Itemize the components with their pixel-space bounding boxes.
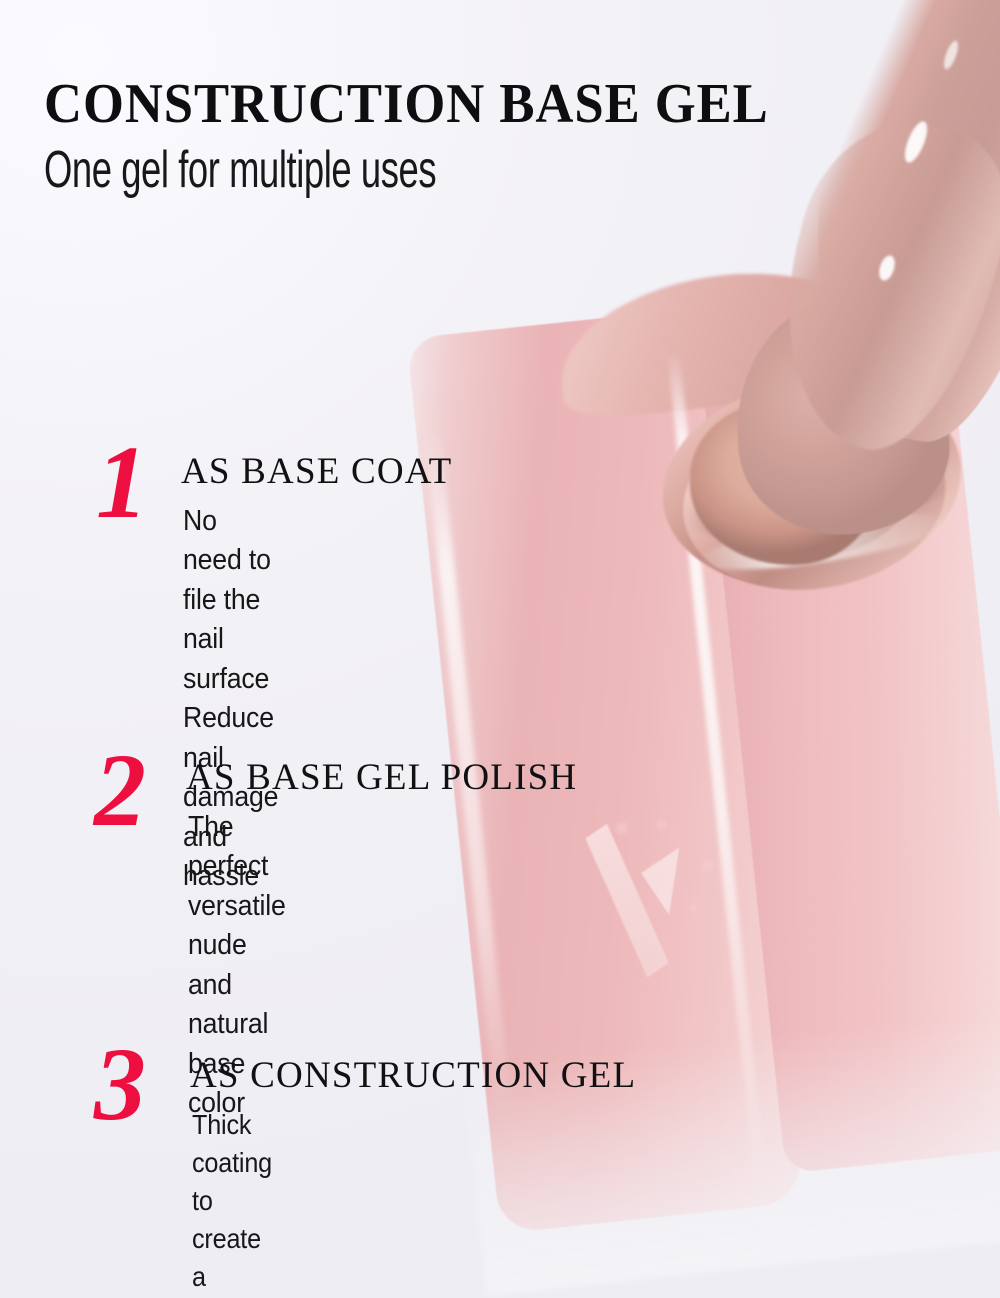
neck-opening [685, 378, 934, 575]
gel-stream-highlight-band [753, 101, 1000, 470]
benefit-number-3: 3 [94, 1038, 146, 1132]
benefit-title-1: AS BASE COAT [181, 450, 452, 493]
neck-ring-outer [648, 359, 976, 608]
bottle-shoulder [552, 259, 894, 423]
bottle-edge-highlight [667, 350, 768, 1197]
gel-specular-2 [876, 253, 897, 282]
benefit-number-2: 2 [94, 744, 146, 838]
page-subtitle: One gel for multiple uses [44, 140, 436, 200]
benefit-description-3: Thick coating to create a perfect C-curv… [192, 1106, 272, 1298]
gel-droplet [720, 287, 961, 549]
emboss-texture [596, 757, 779, 948]
bottle-side-face [698, 312, 1000, 1174]
neck-gloss-highlight [698, 502, 951, 581]
gel-pool-in-neck [690, 400, 880, 565]
gel-specular-1 [900, 119, 931, 166]
emboss-triangle [641, 847, 707, 914]
neck-ring-mid [670, 389, 959, 608]
neck-ring-shadow [683, 449, 955, 552]
emboss-bar [585, 824, 669, 978]
gel-stream [769, 0, 1000, 459]
benefit-title-2: AS BASE GEL POLISH [186, 756, 577, 799]
benefit-title-3: AS CONSTRUCTION GEL [190, 1054, 636, 1097]
page-title: CONSTRUCTION BASE GEL [44, 72, 769, 136]
bottle-bottom-fade [463, 1004, 1000, 1295]
benefit-number-1: 1 [96, 436, 148, 530]
gel-specular-3 [941, 39, 961, 71]
bottle-neck-rings [639, 349, 1000, 695]
product-feature-poster: CONSTRUCTION BASE GEL One gel for multip… [0, 0, 1000, 1298]
brand-logo-emboss-icon [553, 741, 814, 994]
